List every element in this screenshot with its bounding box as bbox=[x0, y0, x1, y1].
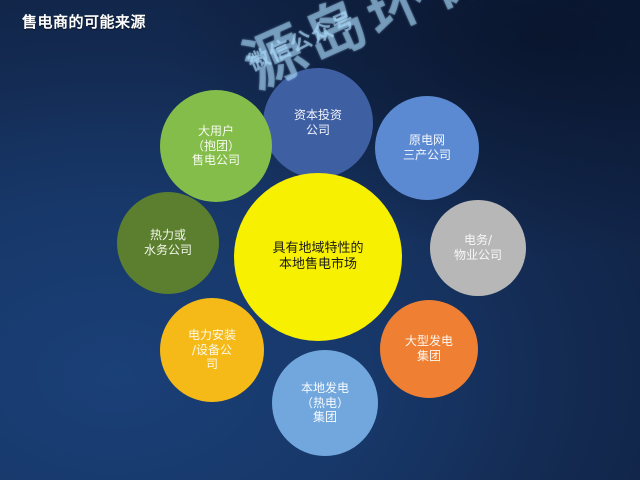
diagram-center-label: 具有地域特性的 本地售电市场 bbox=[268, 241, 367, 273]
diagram-node-capital-investment-company[interactable]: 资本投资 公司 bbox=[263, 68, 373, 178]
diagram-center-node[interactable]: 具有地域特性的 本地售电市场 bbox=[234, 173, 402, 341]
slide-title-bar: 售电商的可能来源 bbox=[0, 0, 640, 40]
diagram-node-label: 本地发电 （热电） 集团 bbox=[297, 381, 353, 425]
diagram-node-label: 电务/ 物业公司 bbox=[450, 233, 506, 262]
diagram-node-large-user-alliance-retail-company[interactable]: 大用户 （抱团） 售电公司 bbox=[160, 90, 272, 202]
slide-canvas: 售电商的可能来源 源岛环保 微信公众号 资本投资 公司原电网 三产公司电务/ 物… bbox=[0, 0, 640, 480]
diagram-node-former-grid-tertiary-company[interactable]: 原电网 三产公司 bbox=[375, 96, 479, 200]
diagram-node-label: 原电网 三产公司 bbox=[399, 133, 455, 162]
diagram-node-heating-or-water-company[interactable]: 热力或 水务公司 bbox=[117, 192, 219, 294]
diagram-node-power-installation-equipment-company[interactable]: 电力安装 /设备公 司 bbox=[160, 298, 264, 402]
page-title: 售电商的可能来源 bbox=[22, 11, 146, 32]
diagram-node-label: 大型发电 集团 bbox=[401, 334, 457, 363]
diagram-node-local-cogeneration-group[interactable]: 本地发电 （热电） 集团 bbox=[272, 350, 378, 456]
diagram-node-label: 电力安装 /设备公 司 bbox=[184, 328, 240, 372]
diagram-node-large-power-generation-group[interactable]: 大型发电 集团 bbox=[380, 300, 478, 398]
diagram-node-label: 资本投资 公司 bbox=[290, 108, 346, 137]
diagram-node-label: 热力或 水务公司 bbox=[140, 228, 196, 257]
diagram-node-label: 大用户 （抱团） 售电公司 bbox=[188, 124, 244, 168]
diagram-node-electrical-property-company[interactable]: 电务/ 物业公司 bbox=[430, 200, 526, 296]
